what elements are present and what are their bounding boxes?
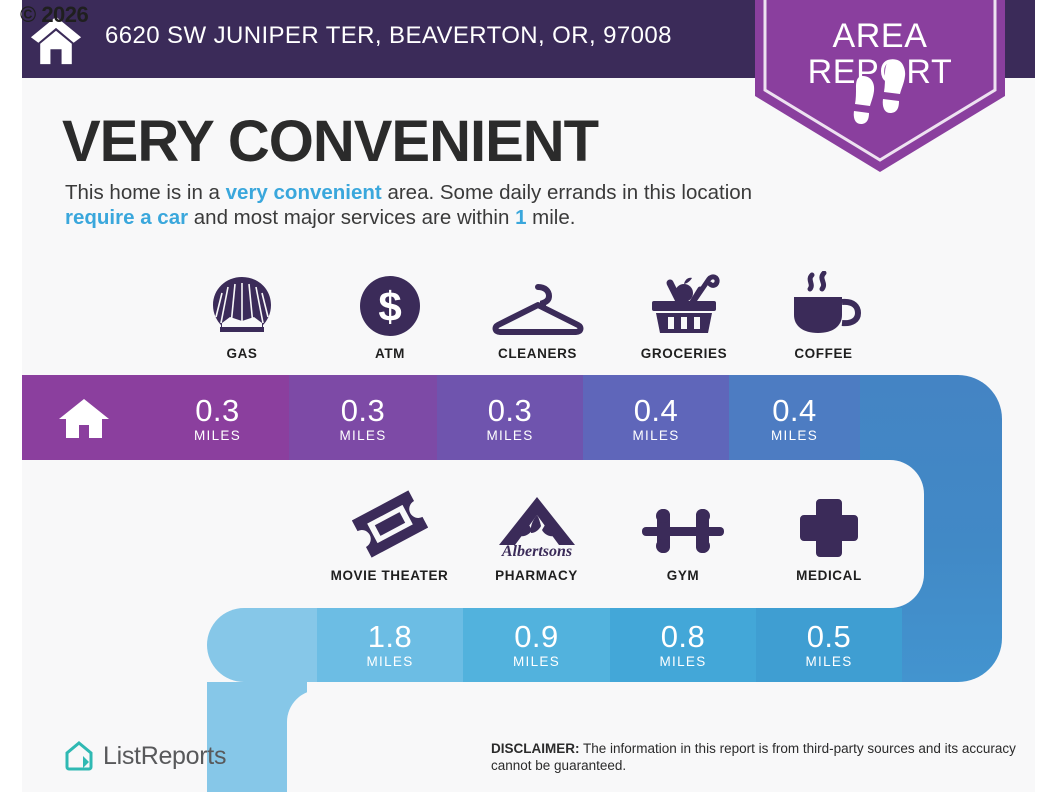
bar-cell-groceries: 0.4 MILES [583,375,729,463]
medical-cross-icon [798,495,860,559]
listreports-house-icon [64,740,94,772]
report-page: 0.3 MILES 0.3 MILES 0.3 MILES 0.4 MILES … [0,0,1056,792]
house-icon [57,397,111,441]
bar-value: 0.3 [195,395,240,426]
bar-row-secondary: 1.8 MILES 0.9 MILES 0.8 MILES 0.5 MILES [207,608,902,682]
icon-cell-cleaners: CLEANERS [464,273,611,361]
area-report-badge: AREA REPORT [755,0,1005,184]
basket-icon [648,273,720,337]
summary-part1: This home is in a [65,181,226,204]
bar-unit: MILES [659,654,706,669]
icon-label: GAS [226,346,257,361]
bar-cell-cleaners: 0.3 MILES [437,375,583,463]
page-title: VERY CONVENIENT [62,108,598,175]
icon-cell-pharmacy: Albertsons PHARMACY [463,495,610,583]
bar-home-marker [22,375,146,463]
icon-label: PHARMACY [495,568,578,583]
bar-unit: MILES [805,654,852,669]
icon-label: GYM [667,568,700,583]
bar-cell-gym: 0.8 MILES [610,608,756,682]
icon-cell-gym: GYM [610,495,756,583]
bar-row-secondary-lead [207,608,317,682]
bar-value: 0.5 [807,621,852,652]
disclaimer-label: DISCLAIMER: [491,741,580,756]
badge-line-2: REPORT [755,54,1005,90]
icon-label: MOVIE THEATER [331,568,449,583]
icon-label: CLEANERS [498,346,577,361]
bar-value: 0.4 [772,395,817,426]
bar-cell-coffee: 0.4 MILES [729,375,860,463]
summary-part4: mile. [526,206,575,229]
shell-gas-icon [210,273,274,337]
property-address: 6620 SW JUNIPER TER, BEAVERTON, OR, 9700… [105,22,672,50]
badge-line-1: AREA [755,18,1005,54]
icon-cell-movie-theater: MOVIE THEATER [316,495,463,583]
bar-unit: MILES [513,654,560,669]
brand-name: ListReports [103,742,226,771]
dumbbell-icon [640,495,726,559]
bar-value: 0.3 [488,395,533,426]
bar-unit: MILES [194,428,241,443]
ticket-icon [352,495,428,559]
albertsons-icon: Albertsons [489,495,585,559]
summary-text: This home is in a very convenient area. … [65,180,765,230]
bar-cell-medical: 0.5 MILES [756,608,902,682]
bar-value: 0.4 [634,395,679,426]
disclaimer: DISCLAIMER: The information in this repo… [491,740,1035,774]
bar-value: 0.3 [341,395,386,426]
bar-value: 1.8 [368,621,413,652]
summary-part3: and most major services are within [188,206,515,229]
summary-highlight2: require a car [65,206,188,229]
dollar-circle-icon: $ [359,273,421,337]
icon-cell-gas: GAS [168,273,316,361]
bar-value: 0.9 [514,621,559,652]
summary-part2: area. Some daily errands in this locatio… [382,181,752,204]
icon-cell-coffee: COFFEE [757,273,890,361]
badge-text: AREA REPORT [755,18,1005,90]
icon-label: GROCERIES [641,346,727,361]
bar-unit: MILES [366,654,413,669]
svg-text:Albertsons: Albertsons [500,543,571,559]
bar-cell-gas: 0.3 MILES [146,375,289,463]
icon-cell-atm: $ ATM [316,273,464,361]
bar-unit: MILES [771,428,818,443]
coffee-cup-icon [786,273,862,337]
icon-row-primary: GAS $ ATM CLEANERS [168,273,890,361]
icon-cell-medical: MEDICAL [756,495,902,583]
hanger-icon [492,273,584,337]
bar-unit: MILES [339,428,386,443]
bar-value: 0.8 [661,621,706,652]
bar-row-primary: 0.3 MILES 0.3 MILES 0.3 MILES 0.4 MILES … [22,375,860,463]
summary-highlight3: 1 [515,206,526,229]
bar-cell-pharmacy: 0.9 MILES [463,608,610,682]
icon-label: MEDICAL [796,568,862,583]
icon-label: COFFEE [794,346,852,361]
bar-unit: MILES [486,428,533,443]
icon-label: ATM [375,346,405,361]
bar-unit: MILES [632,428,679,443]
bar-cell-movie-theater: 1.8 MILES [317,608,463,682]
svg-text:$: $ [378,283,401,330]
brand-logo: ListReports [64,740,226,772]
bar-cell-atm: 0.3 MILES [289,375,437,463]
summary-highlight1: very convenient [226,181,382,204]
icon-cell-groceries: GROCERIES [611,273,757,361]
icon-row-secondary: MOVIE THEATER Albertsons PHARMACY [316,495,902,583]
copyright-watermark: © 2026 [20,2,88,28]
